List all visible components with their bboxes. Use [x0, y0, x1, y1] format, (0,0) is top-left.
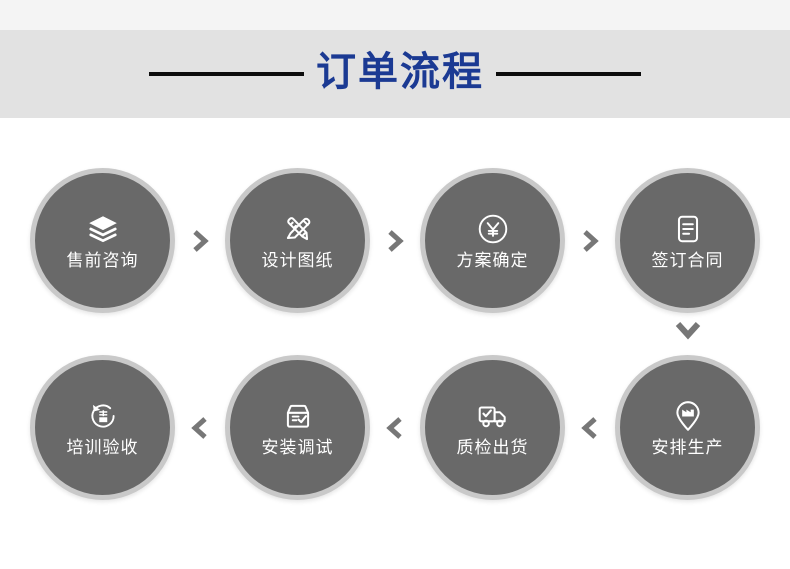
delivery-truck-check-icon: [476, 399, 510, 433]
flow-diagram: 售前咨询 设计图: [0, 118, 790, 569]
flow-step-label: 培训验收: [67, 439, 139, 456]
flow-step-design-drawings[interactable]: 设计图纸: [225, 168, 370, 313]
flow-step-pre-sales-consultation[interactable]: 售前咨询: [30, 168, 175, 313]
chevron-down-icon: [671, 313, 705, 347]
chevron-right-icon: [574, 225, 606, 257]
flow-step-training-acceptance[interactable]: 培训验收: [30, 355, 175, 500]
order-process-infographic: 订单流程 售前咨询: [0, 0, 790, 569]
flow-step-label: 方案确定: [457, 252, 529, 269]
flow-step-sign-contract[interactable]: 签订合同: [615, 168, 760, 313]
layers-icon: [86, 212, 120, 246]
chevron-right-icon: [379, 225, 411, 257]
title-rule-left: [149, 72, 304, 76]
chevron-left-icon: [574, 412, 606, 444]
pencil-ruler-icon: [281, 212, 315, 246]
document-icon: [671, 212, 705, 246]
chevron-left-icon: [379, 412, 411, 444]
flow-step-label: 安排生产: [652, 439, 724, 456]
flow-step-arrange-production[interactable]: 安排生产: [615, 355, 760, 500]
chevron-right-icon: [184, 225, 216, 257]
flow-step-installation-debugging[interactable]: 安装调试: [225, 355, 370, 500]
flow-row-bottom: 培训验收 安装调试: [30, 355, 760, 500]
top-strip: [0, 0, 790, 30]
header-band: 订单流程: [0, 30, 790, 118]
chevron-left-icon: [184, 412, 216, 444]
page-title: 订单流程: [316, 52, 484, 92]
title-rule-right: [496, 72, 641, 76]
flow-step-label: 售前咨询: [67, 252, 139, 269]
flow-step-label: 设计图纸: [262, 252, 334, 269]
factory-pin-icon: [671, 399, 705, 433]
flow-step-plan-confirmation[interactable]: 方案确定: [420, 168, 565, 313]
flow-step-label: 安装调试: [262, 439, 334, 456]
box-check-icon: [281, 399, 315, 433]
flow-step-label: 签订合同: [652, 252, 724, 269]
flow-row-top: 售前咨询 设计图: [30, 168, 760, 313]
flow-step-quality-inspection-shipment[interactable]: 质检出货: [420, 355, 565, 500]
header-inner: 订单流程: [0, 30, 790, 118]
flow-step-label: 质检出货: [457, 439, 529, 456]
yuan-circle-icon: [476, 212, 510, 246]
after-sales-refresh-icon: [86, 399, 120, 433]
